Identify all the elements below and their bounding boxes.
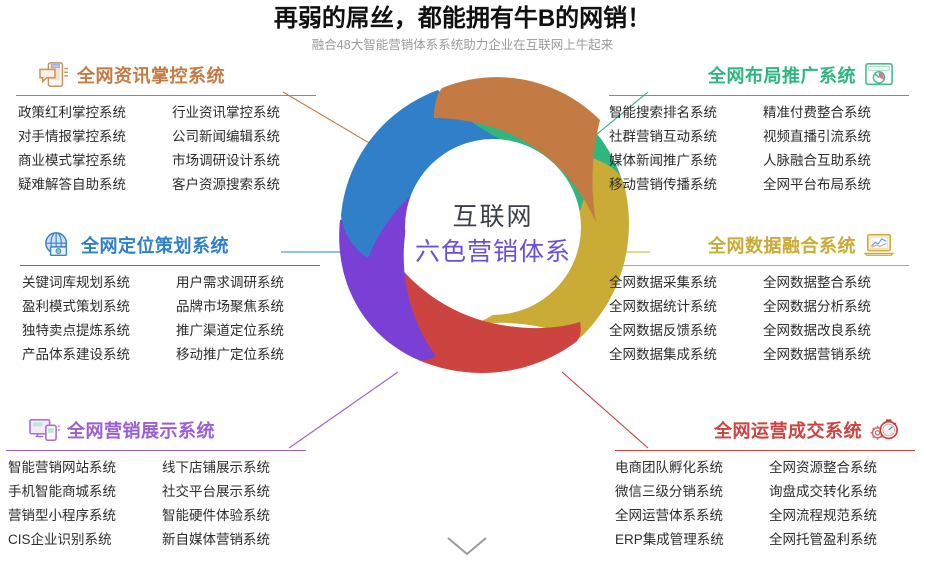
panel-header: 全网数据融合系统 — [609, 228, 909, 262]
list-item[interactable]: 全网数据分析系统 — [763, 295, 907, 318]
panel-operation-deal[interactable]: 全网运营成交系统 电商团队孵化系统 全网资源整合系统 微信三级分销系统 询盘成交… — [615, 413, 915, 551]
stopwatch-gear-icon — [869, 416, 901, 444]
panel-title: 全网定位策划系统 — [81, 232, 229, 258]
list-item[interactable]: 商业模式掌控系统 — [18, 149, 162, 172]
list-item[interactable]: 关键词库规划系统 — [22, 271, 166, 294]
list-item[interactable]: 微信三级分销系统 — [615, 480, 759, 503]
list-item[interactable]: 媒体新闻推广系统 — [609, 149, 753, 172]
globe-money-icon — [42, 231, 74, 259]
panel-item-list: 智能搜索排名系统 精准付费整合系统 社群营销互动系统 视频直播引流系统 媒体新闻… — [609, 101, 909, 196]
list-item[interactable]: 公司新闻编辑系统 — [172, 125, 316, 148]
panel-rule — [6, 450, 306, 451]
list-item[interactable]: 手机智能商城系统 — [8, 480, 152, 503]
list-item[interactable]: 智能营销网站系统 — [8, 456, 152, 479]
list-item[interactable]: 全网资源整合系统 — [769, 456, 913, 479]
panel-info-control[interactable]: 全网资讯掌控系统 政策红利掌控系统 行业资讯掌控系统 对手情报掌控系统 公司新闻… — [16, 58, 316, 196]
panel-title: 全网运营成交系统 — [714, 417, 862, 443]
list-item[interactable]: 政策红利掌控系统 — [18, 101, 162, 124]
list-item[interactable]: 行业资讯掌控系统 — [172, 101, 316, 124]
aperture-graphic: 互联网 六色营销体系 — [338, 72, 648, 382]
list-item[interactable]: 全网托管盈利系统 — [769, 528, 913, 551]
panel-item-list: 政策红利掌控系统 行业资讯掌控系统 对手情报掌控系统 公司新闻编辑系统 商业模式… — [16, 101, 316, 196]
list-item[interactable]: 推广渠道定位系统 — [176, 319, 320, 342]
list-item[interactable]: 智能搜索排名系统 — [609, 101, 753, 124]
laptop-chart-icon — [863, 231, 895, 259]
list-item[interactable]: 独特卖点提炼系统 — [22, 319, 166, 342]
panel-rule — [615, 450, 915, 451]
panel-marketing-display[interactable]: 全网营销展示系统 智能营销网站系统 线下店铺展示系统 手机智能商城系统 社交平台… — [6, 413, 306, 551]
list-item[interactable]: 全网流程规范系统 — [769, 504, 913, 527]
panel-title: 全网数据融合系统 — [708, 232, 856, 258]
list-item[interactable]: 全网平台布局系统 — [763, 173, 907, 196]
list-item[interactable]: CIS企业识别系统 — [8, 528, 152, 551]
list-item[interactable]: 社交平台展示系统 — [162, 480, 306, 503]
tablet-chat-icon — [38, 61, 70, 89]
list-item[interactable]: 盈利模式策划系统 — [22, 295, 166, 318]
list-item[interactable]: 视频直播引流系统 — [763, 125, 907, 148]
panel-item-list: 电商团队孵化系统 全网资源整合系统 微信三级分销系统 询盘成交转化系统 全网运营… — [615, 456, 915, 551]
list-item[interactable]: 询盘成交转化系统 — [769, 480, 913, 503]
infographic-page: 再弱的屌丝，都能拥有牛B的网销！ 融合48大智能营销体系系统助力企业在互联网上牛… — [0, 0, 925, 562]
panel-item-list: 智能营销网站系统 线下店铺展示系统 手机智能商城系统 社交平台展示系统 营销型小… — [6, 456, 306, 551]
list-item[interactable]: 疑难解答自助系统 — [18, 173, 162, 196]
list-item[interactable]: 智能硬件体验系统 — [162, 504, 306, 527]
list-item[interactable]: 市场调研设计系统 — [172, 149, 316, 172]
panel-header: 全网定位策划系统 — [20, 228, 320, 262]
panel-header: 全网营销展示系统 — [6, 413, 306, 447]
browser-gauge-icon — [863, 61, 895, 89]
list-item[interactable]: 线下店铺展示系统 — [162, 456, 306, 479]
panel-data-fusion[interactable]: 全网数据融合系统 全网数据采集系统 全网数据整合系统 全网数据统计系统 全网数据… — [609, 228, 909, 366]
panel-item-list: 关键词库规划系统 用户需求调研系统 盈利模式策划系统 品牌市场聚焦系统 独特卖点… — [20, 271, 320, 366]
header: 再弱的屌丝，都能拥有牛B的网销！ 融合48大智能营销体系系统助力企业在互联网上牛… — [0, 4, 925, 54]
chevron-down-icon — [446, 536, 488, 556]
list-item[interactable]: 精准付费整合系统 — [763, 101, 907, 124]
list-item[interactable]: 全网数据集成系统 — [609, 343, 753, 366]
list-item[interactable]: 产品体系建设系统 — [22, 343, 166, 366]
panel-positioning-planning[interactable]: 全网定位策划系统 关键词库规划系统 用户需求调研系统 盈利模式策划系统 品牌市场… — [20, 228, 320, 366]
list-item[interactable]: 新自媒体营销系统 — [162, 528, 306, 551]
list-item[interactable]: 社群营销互动系统 — [609, 125, 753, 148]
list-item[interactable]: ERP集成管理系统 — [615, 528, 759, 551]
monitor-phone-icon — [28, 416, 60, 444]
list-item[interactable]: 全网数据统计系统 — [609, 295, 753, 318]
panel-rule — [20, 265, 320, 266]
list-item[interactable]: 全网数据反馈系统 — [609, 319, 753, 342]
list-item[interactable]: 营销型小程序系统 — [8, 504, 152, 527]
list-item[interactable]: 全网数据整合系统 — [763, 271, 907, 294]
list-item[interactable]: 电商团队孵化系统 — [615, 456, 759, 479]
list-item[interactable]: 全网数据采集系统 — [609, 271, 753, 294]
panel-layout-promotion[interactable]: 全网布局推广系统 智能搜索排名系统 精准付费整合系统 社群营销互动系统 视频直播… — [609, 58, 909, 196]
list-item[interactable]: 客户资源搜索系统 — [172, 173, 316, 196]
panel-title: 全网资讯掌控系统 — [77, 62, 225, 88]
panel-header: 全网资讯掌控系统 — [16, 58, 316, 92]
panel-rule — [609, 95, 909, 96]
list-item[interactable]: 全网数据营销系统 — [763, 343, 907, 366]
list-item[interactable]: 移动营销传播系统 — [609, 173, 753, 196]
list-item[interactable]: 品牌市场聚焦系统 — [176, 295, 320, 318]
list-item[interactable]: 对手情报掌控系统 — [18, 125, 162, 148]
page-title: 再弱的屌丝，都能拥有牛B的网销！ — [0, 4, 925, 34]
list-item[interactable]: 全网数据改良系统 — [763, 319, 907, 342]
panel-rule — [16, 95, 316, 96]
aperture-center-hole — [405, 139, 581, 315]
panel-header: 全网布局推广系统 — [609, 58, 909, 92]
list-item[interactable]: 移动推广定位系统 — [176, 343, 320, 366]
list-item[interactable]: 人脉融合互助系统 — [763, 149, 907, 172]
list-item[interactable]: 全网运营体系系统 — [615, 504, 759, 527]
panel-rule — [609, 265, 909, 266]
panel-title: 全网布局推广系统 — [708, 62, 856, 88]
panel-item-list: 全网数据采集系统 全网数据整合系统 全网数据统计系统 全网数据分析系统 全网数据… — [609, 271, 909, 366]
list-item[interactable]: 用户需求调研系统 — [176, 271, 320, 294]
panel-header: 全网运营成交系统 — [615, 413, 915, 447]
panel-title: 全网营销展示系统 — [67, 417, 215, 443]
page-subtitle: 融合48大智能营销体系系统助力企业在互联网上牛起来 — [0, 36, 925, 54]
